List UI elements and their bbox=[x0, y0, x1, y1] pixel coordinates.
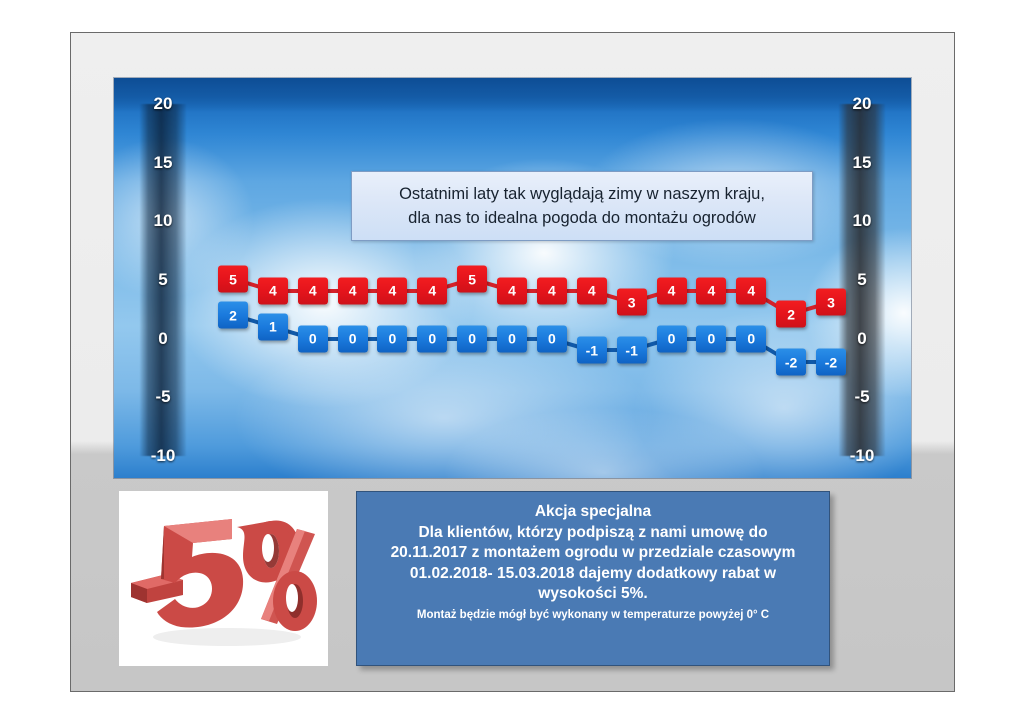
discount-image bbox=[119, 491, 328, 666]
axis-tick-label: -10 bbox=[839, 446, 885, 466]
sky-top-shade bbox=[114, 78, 911, 112]
axis-tick-label: 20 bbox=[140, 94, 186, 114]
axis-tick-label: 15 bbox=[140, 153, 186, 173]
axis-tick-label: -10 bbox=[140, 446, 186, 466]
axis-tick-label: 0 bbox=[140, 329, 186, 349]
right-axis-labels: 20151050-5-10 bbox=[839, 104, 885, 456]
axis-tick-label: 20 bbox=[839, 94, 885, 114]
callout-line-1: Ostatnimi laty tak wyglądają zimy w nasz… bbox=[399, 184, 765, 205]
promo-line-2: Dla klientów, którzy podpiszą z nami umo… bbox=[418, 523, 767, 544]
left-axis-labels: 20151050-5-10 bbox=[140, 104, 186, 456]
promo-line-5: wysokości 5%. bbox=[538, 584, 647, 605]
axis-tick-label: -5 bbox=[839, 387, 885, 407]
chart-callout-box: Ostatnimi laty tak wyglądają zimy w nasz… bbox=[351, 171, 813, 241]
weather-chart-panel: 20151050-5-10 20151050-5-10 544444544434… bbox=[114, 78, 911, 478]
slide-canvas: 20151050-5-10 20151050-5-10 544444544434… bbox=[0, 0, 1024, 723]
axis-tick-label: 5 bbox=[140, 270, 186, 290]
axis-tick-label: 5 bbox=[839, 270, 885, 290]
sky-background bbox=[114, 78, 911, 478]
promo-line-4: 01.02.2018- 15.03.2018 dajemy dodatkowy … bbox=[410, 564, 776, 585]
presentation-slide: 20151050-5-10 20151050-5-10 544444544434… bbox=[70, 32, 955, 692]
callout-line-2: dla nas to idealna pogoda do montażu ogr… bbox=[408, 208, 756, 229]
special-offer-box: Akcja specjalna Dla klientów, którzy pod… bbox=[356, 491, 830, 666]
axis-tick-label: 0 bbox=[839, 329, 885, 349]
promo-line-3: 20.11.2017 z montażem ogrodu w przedzial… bbox=[391, 543, 796, 564]
promo-note: Montaż będzie mógł być wykonany w temper… bbox=[417, 608, 769, 623]
promo-title: Akcja specjalna bbox=[535, 502, 651, 523]
axis-tick-label: 10 bbox=[140, 211, 186, 231]
axis-tick-label: 10 bbox=[839, 211, 885, 231]
minus-five-percent-graphic bbox=[119, 491, 328, 666]
axis-tick-label: -5 bbox=[140, 387, 186, 407]
axis-tick-label: 15 bbox=[839, 153, 885, 173]
